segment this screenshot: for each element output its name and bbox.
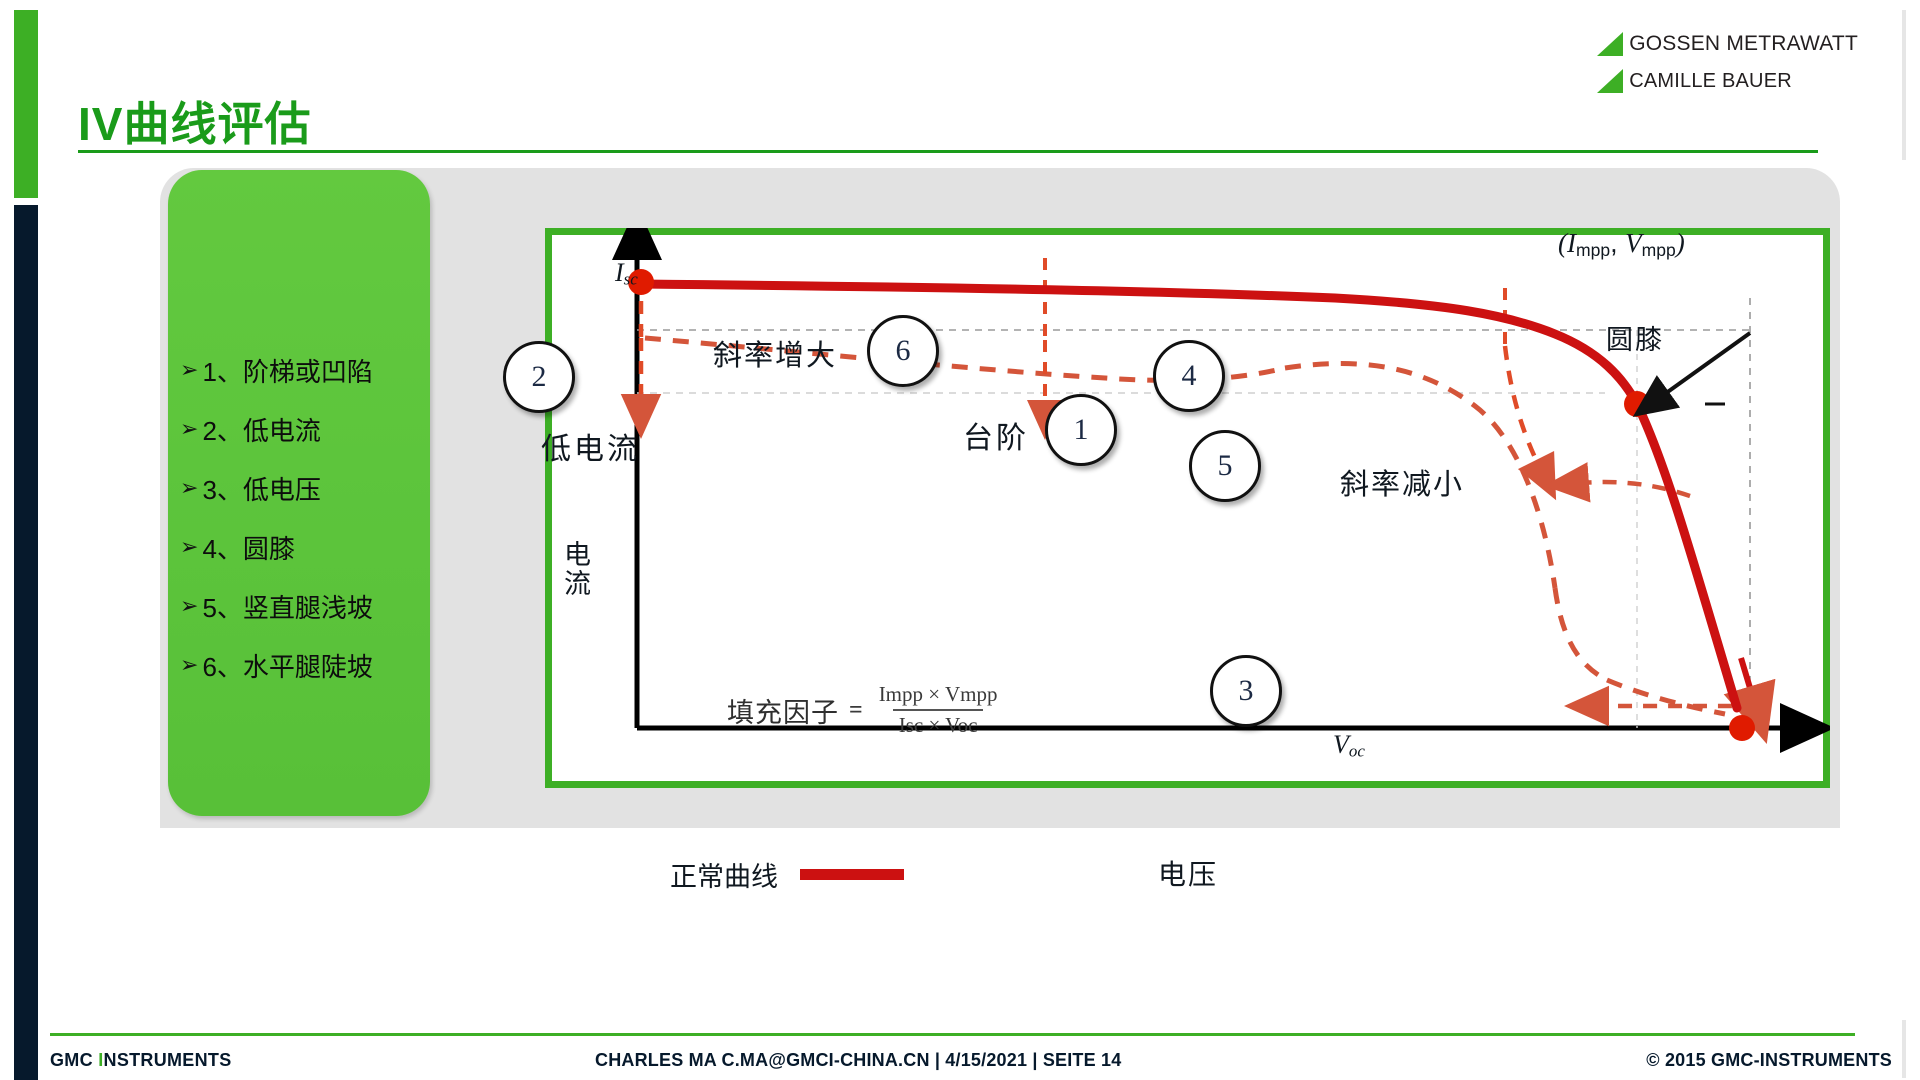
list-item-label: 5、竖直腿浅坡	[202, 588, 372, 625]
formula-equals: =	[849, 697, 863, 724]
list-item-label: 1、阶梯或凹陷	[202, 352, 372, 389]
list-item-label: 6、水平腿陡坡	[202, 647, 372, 684]
right-edge-rule-top	[1902, 10, 1906, 160]
bullet-list: ➢ 1、阶梯或凹陷 ➢ 2、低电流 ➢ 3、低电压 ➢ 4、圆膝 ➢ 5、竖直腿…	[180, 352, 424, 684]
list-item: ➢ 6、水平腿陡坡	[180, 647, 424, 684]
voc-point	[1729, 715, 1755, 741]
slope-increase-annotation: 斜率增大	[713, 332, 837, 374]
bullet-list-card: ➢ 1、阶梯或凹陷 ➢ 2、低电流 ➢ 3、低电压 ➢ 4、圆膝 ➢ 5、竖直腿…	[168, 170, 430, 816]
green-triangle-icon	[1597, 69, 1623, 93]
footer-copyright: © 2015 GMC-INSTRUMENTS	[1646, 1050, 1892, 1071]
legend-swatch-normal-curve	[800, 869, 904, 880]
logo-camille-bauer: CAMILLE BAUER	[1597, 69, 1858, 93]
arrow-bullet-icon: ➢	[180, 595, 198, 617]
right-edge-rule-bottom	[1902, 1020, 1906, 1078]
voc-axis-label: Voc	[1333, 730, 1365, 762]
marker-circle-1: 1	[1045, 394, 1117, 466]
footer-brand-rest: NSTRUMENTS	[104, 1050, 232, 1070]
step-annotation: 台阶	[963, 413, 1029, 457]
formula-left-label: 填充因子	[727, 691, 839, 730]
marker-circle-6: 6	[867, 315, 939, 387]
logo-gossen-label: GOSSEN METRAWATT	[1629, 32, 1858, 56]
arrow-bullet-icon: ➢	[180, 418, 198, 440]
logo-camille-label: CAMILLE BAUER	[1629, 70, 1792, 93]
arrow-bullet-icon: ➢	[180, 477, 198, 499]
chart-legend: 正常曲线	[670, 855, 904, 894]
low-current-annotation: 低电流	[541, 424, 640, 468]
arrow-bullet-icon: ➢	[180, 654, 198, 676]
list-item-label: 3、低电压	[202, 470, 320, 507]
left-accent-green-bar	[14, 10, 38, 198]
list-item-label: 2、低电流	[202, 411, 320, 448]
legend-label-normal-curve: 正常曲线	[670, 855, 778, 894]
title-underline	[78, 150, 1818, 153]
formula-numerator: Impp × Vmpp	[873, 682, 1004, 709]
marker-circle-5: 5	[1189, 430, 1261, 502]
marker-circle-2: 2	[503, 341, 575, 413]
green-triangle-icon	[1597, 32, 1623, 56]
list-item: ➢ 3、低电压	[180, 470, 424, 507]
list-item: ➢ 5、竖直腿浅坡	[180, 588, 424, 625]
isc-axis-label: Isc	[615, 258, 638, 290]
formula-denominator: Isc × Voc	[893, 709, 984, 738]
left-accent-navy-bar	[14, 205, 38, 1080]
slope-decrease-annotation: 斜率减小	[1340, 461, 1464, 503]
formula-fraction: Impp × Vmpp Isc × Voc	[873, 682, 1004, 738]
round-knee-annotation: 圆膝	[1606, 318, 1664, 357]
marker-circle-4: 4	[1153, 340, 1225, 412]
y-axis-label: 电流	[556, 540, 595, 598]
x-axis-label: 电压	[1158, 853, 1218, 893]
footer-center-text: CHARLES MA C.MA@GMCI-CHINA.CN | 4/15/202…	[595, 1050, 1121, 1071]
arrow-bullet-icon: ➢	[180, 359, 198, 381]
footer-brand: GMC INSTRUMENTS	[50, 1050, 232, 1071]
mpp-annotation-label: (Impp, Vmpp)	[1558, 228, 1685, 261]
mpp-callout-arrow	[1662, 333, 1750, 396]
footer-brand-gmc: GMC	[50, 1050, 98, 1070]
marker-circle-3: 3	[1210, 655, 1282, 727]
arrow-bullet-icon: ➢	[180, 536, 198, 558]
list-item: ➢ 4、圆膝	[180, 529, 424, 566]
list-item-label: 4、圆膝	[202, 529, 294, 566]
fill-factor-formula: 填充因子 = Impp × Vmpp Isc × Voc	[727, 682, 1003, 738]
mpp-point	[1624, 391, 1650, 417]
footer-divider	[50, 1033, 1855, 1036]
list-item: ➢ 1、阶梯或凹陷	[180, 352, 424, 389]
brand-logo-block: GOSSEN METRAWATT CAMILLE BAUER	[1597, 32, 1858, 93]
list-item: ➢ 2、低电流	[180, 411, 424, 448]
logo-gossen-metrawatt: GOSSEN METRAWATT	[1597, 32, 1858, 56]
page-title: IV曲线评估	[78, 88, 311, 154]
